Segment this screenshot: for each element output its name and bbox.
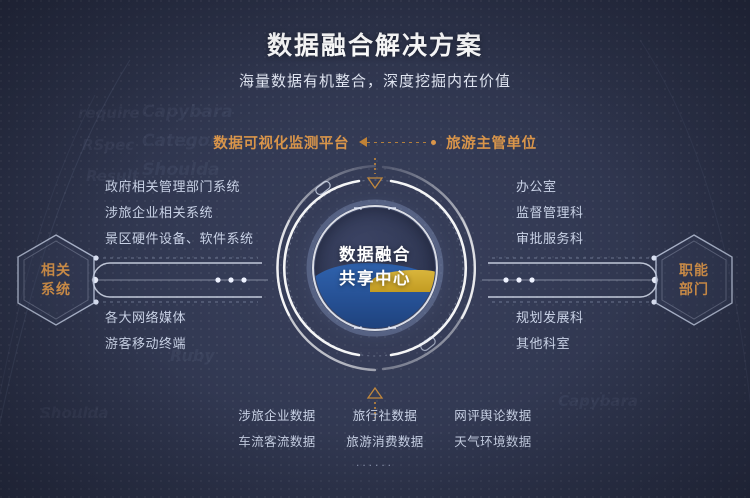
page-subtitle: 海量数据有机整合，深度挖掘内在价值 (0, 70, 750, 91)
bottom-data-grid: 涉旅企业数据 旅行社数据 网评舆论数据 车流客流数据 旅游消费数据 天气环境数据 (225, 405, 545, 450)
left-top-list: 政府相关管理部门系统 涉旅企业相关系统 景区硬件设备、软件系统 (105, 174, 254, 252)
list-item[interactable]: 旅行社数据 (333, 405, 437, 424)
page-title: 数据融合解决方案 (0, 26, 750, 62)
list-item[interactable]: 游客移动终端 (105, 331, 186, 357)
list-item[interactable]: 办公室 (516, 174, 584, 200)
list-item[interactable]: 网评舆论数据 (441, 405, 545, 424)
right-hexagon-label: 职能 部门 (652, 232, 736, 328)
core-label: 数据融合 共享中心 (255, 148, 495, 388)
list-item[interactable]: 各大网络媒体 (105, 305, 186, 331)
dashed-line (367, 142, 429, 143)
list-item[interactable]: 监督管理科 (516, 200, 584, 226)
left-hexagon-label: 相关 系统 (14, 232, 98, 328)
arrow-end-dot-icon (431, 140, 436, 145)
background-text-7: Capybara (558, 392, 638, 410)
right-hexagon-line2: 部门 (679, 280, 709, 299)
left-hexagon-line2: 系统 (41, 280, 71, 299)
core-label-line1: 数据融合 (339, 244, 411, 268)
right-bottom-list: 规划发展科 其他科室 (516, 305, 584, 357)
flow-arrow-left (359, 136, 436, 148)
list-item[interactable]: 车流客流数据 (225, 431, 329, 450)
left-hexagon-node[interactable]: 相关 系统 (14, 232, 98, 328)
arrow-head-icon (359, 137, 367, 147)
background-text-8: Shoulda (40, 404, 108, 422)
list-item[interactable]: 天气环境数据 (441, 431, 545, 450)
left-hexagon-line1: 相关 (41, 261, 71, 280)
list-item[interactable]: 规划发展科 (516, 305, 584, 331)
infographic-canvas: Capybara Category Shoulda require RSpec … (0, 0, 750, 498)
data-fusion-core: 数据融合 共享中心 (255, 148, 495, 388)
list-item[interactable]: 旅游消费数据 (333, 431, 437, 450)
list-item[interactable]: 涉旅企业数据 (225, 405, 329, 424)
list-item[interactable]: 政府相关管理部门系统 (105, 174, 254, 200)
bottom-ellipsis: ...... (0, 455, 750, 469)
left-bottom-list: 各大网络媒体 游客移动终端 (105, 305, 186, 357)
core-label-line2: 共享中心 (339, 268, 411, 292)
list-item[interactable]: 景区硬件设备、软件系统 (105, 226, 254, 252)
right-top-list: 办公室 监督管理科 审批服务科 (516, 174, 584, 252)
background-text-0: Capybara (142, 102, 233, 122)
list-item[interactable]: 其他科室 (516, 331, 584, 357)
list-item[interactable]: 涉旅企业相关系统 (105, 200, 254, 226)
background-text-3: require (78, 104, 140, 122)
list-item[interactable]: 审批服务科 (516, 226, 584, 252)
right-hexagon-node[interactable]: 职能 部门 (652, 232, 736, 328)
right-hexagon-line1: 职能 (679, 261, 709, 280)
